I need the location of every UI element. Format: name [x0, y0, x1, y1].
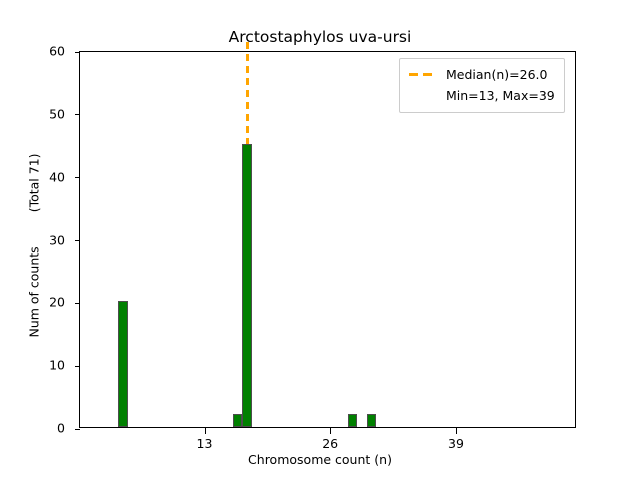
bar-37	[348, 414, 358, 427]
bar-39	[367, 414, 377, 427]
x-tick-mark-13	[205, 428, 206, 434]
y-tick-label-50: 50	[49, 106, 65, 121]
y-tick-mark-30	[75, 240, 81, 241]
y-tick-mark-60	[75, 52, 81, 53]
x-tick-mark-39	[456, 428, 457, 434]
y-axis-label-group: Num of counts(Total 71)	[14, 70, 34, 410]
y-tick-label-60: 60	[49, 44, 65, 59]
y-tick-label-0: 0	[57, 421, 65, 436]
y-tick-mark-20	[75, 303, 81, 304]
y-axis-label-main: Num of counts	[27, 246, 42, 337]
x-axis-label: Chromosome count (n)	[0, 452, 640, 467]
x-tick-label-39: 39	[448, 436, 464, 451]
legend-label-range: Min=13, Max=39	[446, 88, 555, 103]
bar-26	[242, 144, 252, 427]
y-tick-mark-40	[75, 177, 81, 178]
x-tick-label-26: 26	[322, 436, 338, 451]
figure-canvas: Arctostaphylos uva-ursi 0 10 20 30 40 50…	[0, 0, 640, 480]
y-tick-label-30: 30	[49, 232, 65, 247]
legend-label-median: Median(n)=26.0	[446, 67, 547, 82]
x-tick-label-13: 13	[197, 436, 213, 451]
bar-13	[118, 301, 128, 427]
x-tick-mark-26	[330, 428, 331, 434]
y-tick-label-20: 20	[49, 295, 65, 310]
y-tick-label-10: 10	[49, 358, 65, 373]
y-axis-label: Num of counts(Total 71)	[27, 76, 42, 416]
chart-title: Arctostaphylos uva-ursi	[0, 28, 640, 46]
legend-box: Median(n)=26.0 Min=13, Max=39	[399, 58, 565, 113]
legend-entry-range: Min=13, Max=39	[409, 85, 555, 106]
y-tick-label-40: 40	[49, 169, 65, 184]
y-axis-label-total: (Total 71)	[27, 153, 42, 212]
legend-entry-median: Median(n)=26.0	[409, 64, 555, 85]
dashed-line-icon	[409, 73, 437, 76]
y-tick-mark-10	[75, 366, 81, 367]
bar-25	[233, 414, 243, 427]
plot-area: Median(n)=26.0 Min=13, Max=39	[79, 51, 576, 428]
y-tick-mark-50	[75, 114, 81, 115]
